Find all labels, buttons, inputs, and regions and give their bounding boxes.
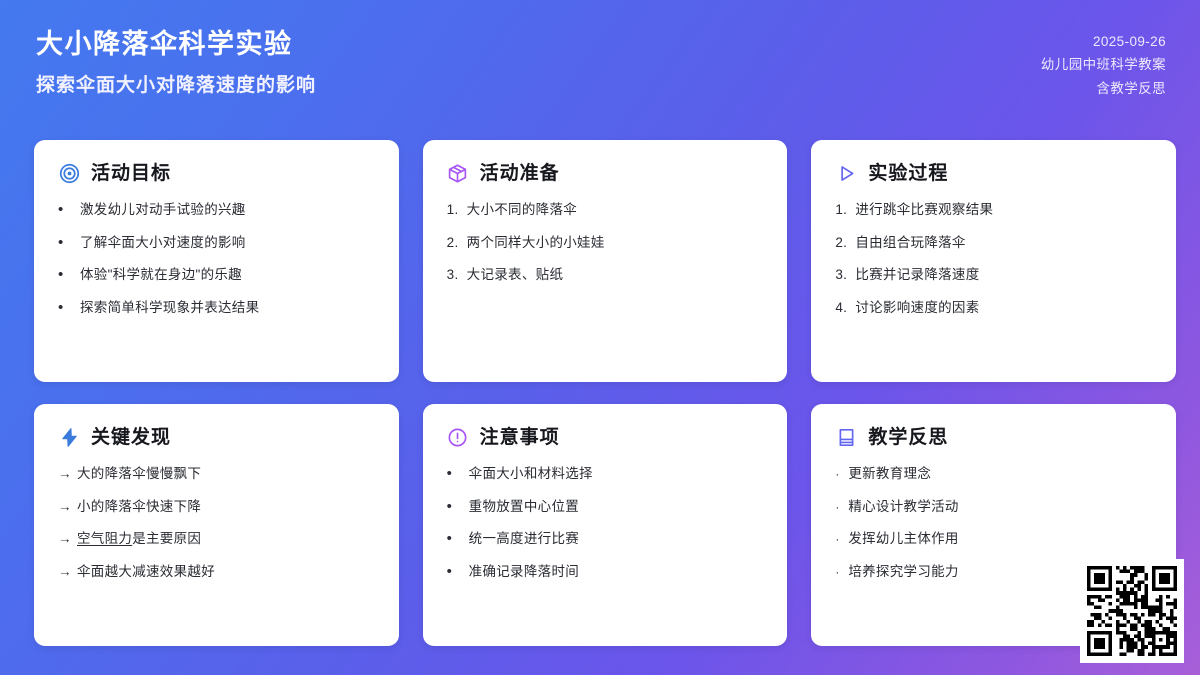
card-title: 活动准备 [480,164,560,183]
list-marker: 2. [447,233,467,253]
list-item-label: 伞面越大减速效果越好 [77,562,375,582]
list-item-label: 进行跳伞比赛观察结果 [855,200,1152,220]
list-marker: 4. [835,298,855,318]
list-item-label: 精心设计教学活动 [848,497,1152,517]
list-item: 4.讨论影响速度的因素 [835,298,1152,318]
list-item-label: 伞面大小和材料选择 [469,464,764,484]
card-header: 活动目标 [58,162,375,184]
list-item: →大的降落伞慢慢飘下 [58,464,375,484]
card-item-list: •激发幼儿对动手试验的兴趣•了解伞面大小对速度的影响•体验"科学就在身边"的乐趣… [58,200,375,317]
list-item-label: 统一高度进行比赛 [469,529,764,549]
meta-note: 含教学反思 [1097,79,1167,99]
list-item-label: 发挥幼儿主体作用 [848,529,1152,549]
list-item: 1.大小不同的降落伞 [447,200,764,220]
list-marker: · [835,466,848,483]
card-experiment-process: 实验过程1.进行跳伞比赛观察结果2.自由组合玩降落伞3.比赛并记录降落速度4.讨… [811,140,1176,382]
list-marker: • [447,464,469,484]
list-item: ·发挥幼儿主体作用 [835,529,1152,549]
list-item-label: 重物放置中心位置 [469,497,764,517]
card-header: 实验过程 [835,162,1152,184]
list-item: •统一高度进行比赛 [447,529,764,549]
play-icon [835,162,857,184]
card-item-list: 1.大小不同的降落伞2.两个同样大小的小娃娃3.大记录表、贴纸 [447,200,764,285]
list-item: →小的降落伞快速下降 [58,497,375,517]
card-precautions: 注意事项•伞面大小和材料选择•重物放置中心位置•统一高度进行比赛•准确记录降落时… [423,404,788,646]
list-marker: • [58,233,80,253]
book-icon [835,426,857,448]
card-activity-goals: 活动目标•激发幼儿对动手试验的兴趣•了解伞面大小对速度的影响•体验"科学就在身边… [34,140,399,382]
alert-circle-icon [447,426,469,448]
card-activity-preparation: 活动准备1.大小不同的降落伞2.两个同样大小的小娃娃3.大记录表、贴纸 [423,140,788,382]
poster-header: 大小降落伞科学实验 探索伞面大小对降落速度的影响 2025-09-26 幼儿园中… [0,0,1200,140]
list-marker: 2. [835,233,855,253]
list-marker: • [58,298,80,318]
list-item: 3.大记录表、贴纸 [447,265,764,285]
list-marker: · [835,499,848,516]
list-item-label: 体验"科学就在身边"的乐趣 [80,265,375,285]
list-marker: → [58,562,77,582]
poster-root: 大小降落伞科学实验 探索伞面大小对降落速度的影响 2025-09-26 幼儿园中… [0,0,1200,675]
list-item: •准确记录降落时间 [447,562,764,582]
list-marker: → [58,464,77,484]
list-item: •重物放置中心位置 [447,497,764,517]
card-header: 活动准备 [447,162,764,184]
package-icon [447,162,469,184]
list-item: •了解伞面大小对速度的影响 [58,233,375,253]
list-marker: • [447,497,469,517]
card-header: 教学反思 [835,426,1152,448]
meta-date: 2025-09-26 [1093,32,1166,52]
header-meta-block: 2025-09-26 幼儿园中班科学教案 含教学反思 [1041,28,1166,99]
card-header: 注意事项 [447,426,764,448]
list-marker: • [58,200,80,220]
list-item: 1.进行跳伞比赛观察结果 [835,200,1152,220]
list-marker: → [58,529,77,549]
list-item: •探索简单科学现象并表达结果 [58,298,375,318]
list-item: •伞面大小和材料选择 [447,464,764,484]
list-marker: · [835,531,848,548]
qr-code-image [1087,566,1177,656]
header-title-block: 大小降落伞科学实验 探索伞面大小对降落速度的影响 [36,28,316,98]
list-item: •体验"科学就在身边"的乐趣 [58,265,375,285]
lightning-icon [58,426,80,448]
card-grid: 活动目标•激发幼儿对动手试验的兴趣•了解伞面大小对速度的影响•体验"科学就在身边… [34,140,1176,646]
list-item-label: 空气阻力是主要原因 [77,529,375,549]
card-title: 活动目标 [91,164,171,183]
target-icon [58,162,80,184]
list-item-label: 大小不同的降落伞 [467,200,764,220]
list-item: •激发幼儿对动手试验的兴趣 [58,200,375,220]
card-item-list: •伞面大小和材料选择•重物放置中心位置•统一高度进行比赛•准确记录降落时间 [447,464,764,581]
list-marker: • [58,265,80,285]
list-item: 2.自由组合玩降落伞 [835,233,1152,253]
list-item-label: 了解伞面大小对速度的影响 [80,233,375,253]
card-title: 关键发现 [91,428,171,447]
list-marker: · [835,564,848,581]
list-item-label: 小的降落伞快速下降 [77,497,375,517]
list-item-label: 自由组合玩降落伞 [855,233,1152,253]
list-item-label: 讨论影响速度的因素 [855,298,1152,318]
card-title: 注意事项 [480,428,560,447]
qr-code[interactable] [1080,559,1184,663]
list-item: →空气阻力是主要原因 [58,529,375,549]
list-item: 2.两个同样大小的小娃娃 [447,233,764,253]
list-item-label: 两个同样大小的小娃娃 [467,233,764,253]
card-item-list: 1.进行跳伞比赛观察结果2.自由组合玩降落伞3.比赛并记录降落速度4.讨论影响速… [835,200,1152,317]
card-key-findings: 关键发现→大的降落伞慢慢飘下→小的降落伞快速下降→空气阻力是主要原因→伞面越大减… [34,404,399,646]
list-marker: • [447,529,469,549]
list-item: 3.比赛并记录降落速度 [835,265,1152,285]
list-item-label: 准确记录降落时间 [469,562,764,582]
card-item-list: →大的降落伞慢慢飘下→小的降落伞快速下降→空气阻力是主要原因→伞面越大减速效果越… [58,464,375,581]
list-item-label: 大记录表、贴纸 [467,265,764,285]
list-marker: 1. [835,200,855,220]
card-title: 实验过程 [868,164,948,183]
list-marker: 3. [447,265,467,285]
list-marker: → [58,497,77,517]
page-subtitle: 探索伞面大小对降落速度的影响 [36,74,316,99]
list-item: ·精心设计教学活动 [835,497,1152,517]
list-item: ·更新教育理念 [835,464,1152,484]
list-item-label: 比赛并记录降落速度 [855,265,1152,285]
list-item: →伞面越大减速效果越好 [58,562,375,582]
list-marker: 1. [447,200,467,220]
list-item-label: 探索简单科学现象并表达结果 [80,298,375,318]
list-item-label: 更新教育理念 [848,464,1152,484]
card-title: 教学反思 [868,428,948,447]
list-marker: 3. [835,265,855,285]
card-header: 关键发现 [58,426,375,448]
meta-category: 幼儿园中班科学教案 [1041,55,1166,75]
list-item-label: 激发幼儿对动手试验的兴趣 [80,200,375,220]
page-title: 大小降落伞科学实验 [36,28,316,62]
list-marker: • [447,562,469,582]
list-item-label: 大的降落伞慢慢飘下 [77,464,375,484]
